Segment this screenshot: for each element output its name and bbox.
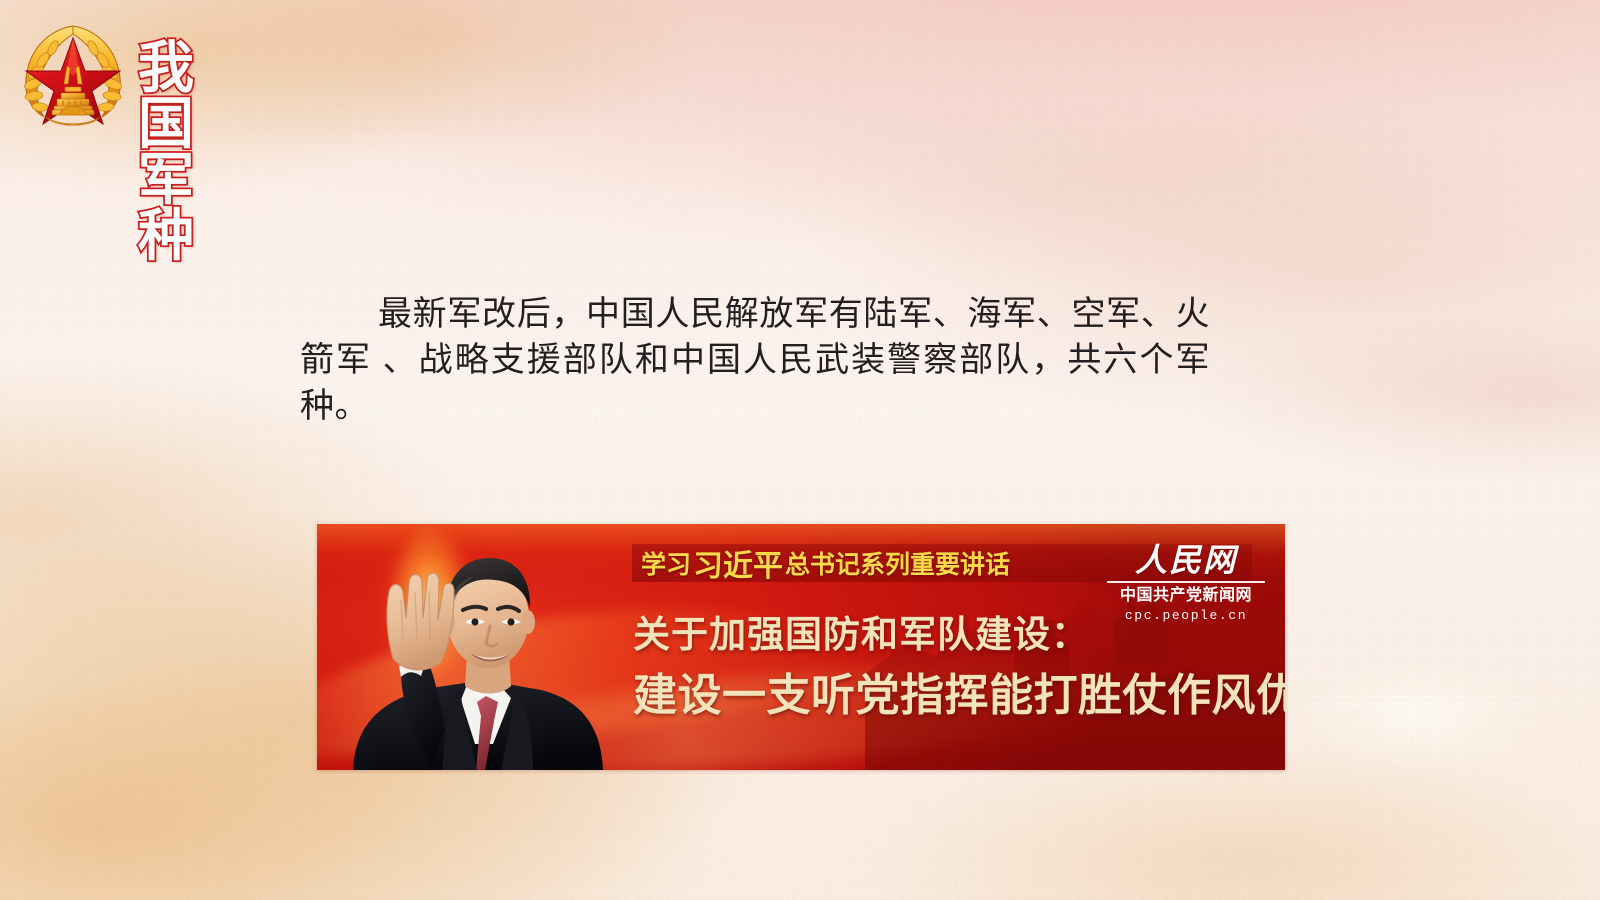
background-flare-streak [1240,703,1600,706]
people-cn-logo[interactable]: 人民网 中国共产党新闻网 cpc.people.cn [1107,544,1265,623]
cpc-people-banner[interactable]: 学习 习近平 总书记系列重要讲话 关于加强国防和军队建设： 建设一支听党指挥能打… [317,524,1285,770]
logo-sub-text: 中国共产党新闻网 [1107,586,1265,606]
subtitle-lead: 学习 [641,545,691,581]
logo-divider [1107,581,1265,583]
banner-headline-line1: 关于加强国防和军队建设： [633,604,1089,658]
logo-main-text: 人民网 [1107,544,1265,578]
logo-url-text: cpc.people.cn [1107,608,1265,623]
banner-subtitle-text: 学习 习近平 总书记系列重要讲话 [641,546,1010,580]
subtitle-name: 习近平 [693,541,783,585]
pla-august-first-emblem-icon [12,14,134,132]
page-title: 我国军种 [138,40,195,264]
subtitle-tail: 总书记系列重要讲话 [785,545,1010,581]
body-paragraph: 最新军改后，中国人民解放军有陆军、海军、空军、火箭军 、战略支援部队和中国人民武… [300,292,1210,430]
xi-jinping-waving-portrait-icon [335,530,605,770]
slide-canvas: 我国军种 最新军改后，中国人民解放军有陆军、海军、空军、火箭军 、战略支援部队和… [0,0,1600,900]
banner-headline-line2: 建设一支听党指挥能打胜仗作风优良的人民军队 [633,659,1285,723]
background-light-flare [1270,640,1570,790]
